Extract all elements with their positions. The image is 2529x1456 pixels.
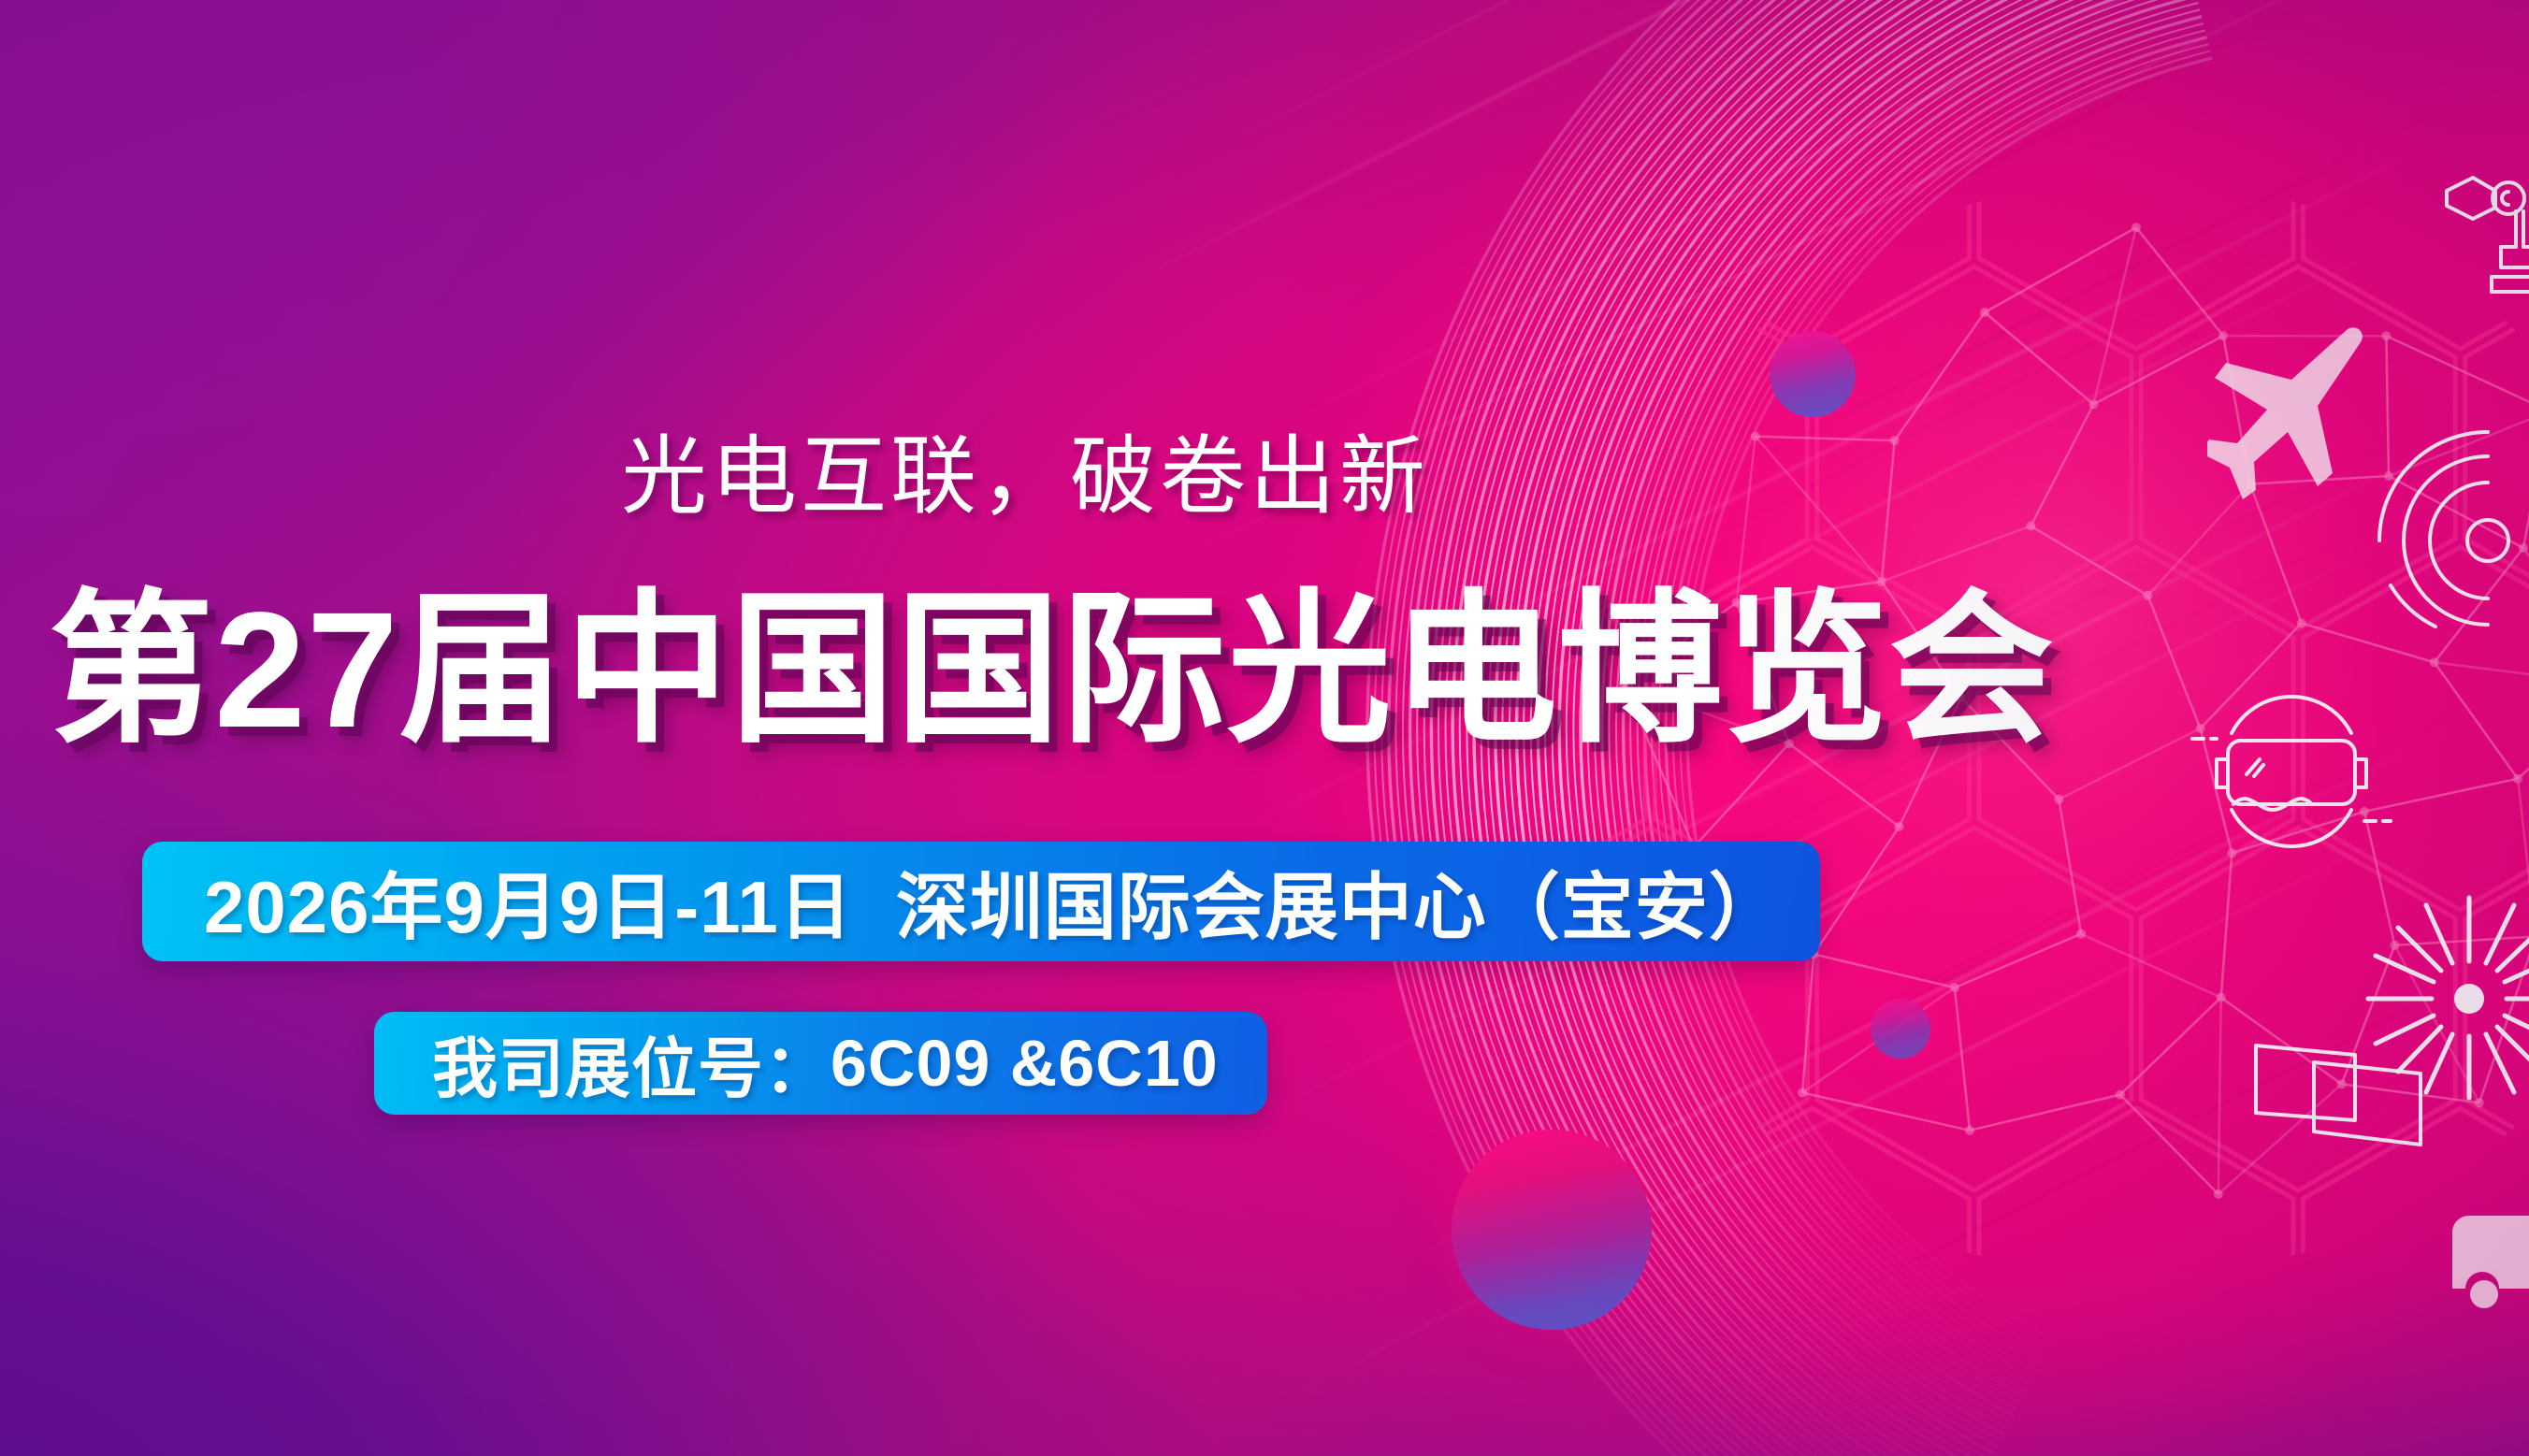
background-vignette xyxy=(0,0,2529,1456)
exhibition-promo-banner: 光电互联，破卷出新 第27届中国国际光电博览会 2026年9月9日-11日 深圳… xyxy=(0,0,2529,1456)
